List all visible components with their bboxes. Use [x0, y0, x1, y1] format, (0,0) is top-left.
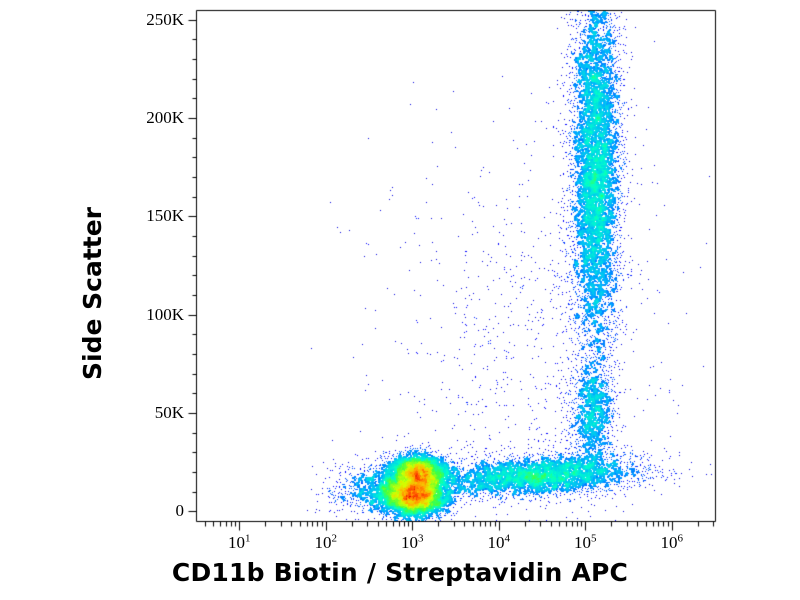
flow-cytometry-figure: Side Scatter CD11b Biotin / Streptavidin…: [0, 0, 800, 600]
scatter-plot-canvas: [0, 0, 800, 600]
